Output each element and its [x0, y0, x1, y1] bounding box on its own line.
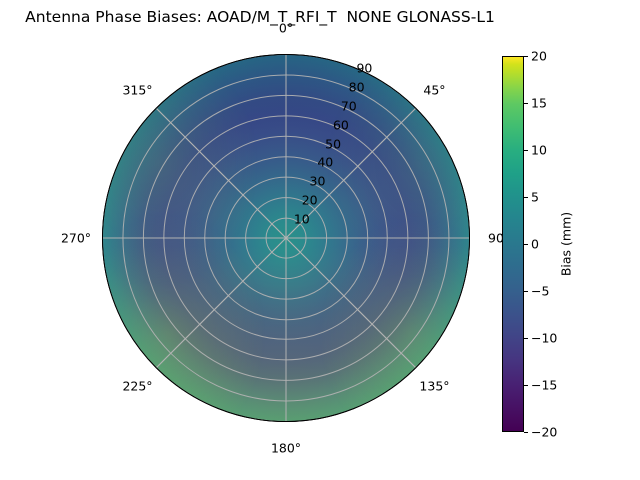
colorbar-tick: [524, 103, 528, 104]
r-tick-label: 70: [341, 98, 357, 113]
colorbar-tick-label: 20: [531, 49, 547, 64]
colorbar-gradient: [502, 56, 524, 432]
colorbar-tick-label: 10: [531, 143, 547, 158]
theta-tick-label: 180°: [271, 441, 301, 456]
page-title: Antenna Phase Biases: AOAD/M_T_RFI_T NON…: [0, 8, 520, 26]
r-tick-label: 80: [349, 79, 365, 94]
colorbar-tick-label: −5: [531, 284, 549, 299]
colorbar-tick-label: 0: [531, 237, 539, 252]
colorbar-tick: [524, 150, 528, 151]
colorbar-tick: [524, 291, 528, 292]
theta-tick-label: 135°: [419, 379, 449, 394]
polar-axes[interactable]: 0°45°90135°180°225°270°315°1020304050607…: [102, 54, 470, 422]
colorbar-tick: [524, 432, 528, 433]
theta-tick-label: 270°: [61, 231, 91, 246]
r-tick-label: 50: [325, 136, 341, 151]
colorbar-tick-label: 5: [531, 190, 539, 205]
r-tick-label: 30: [310, 174, 326, 189]
colorbar-tick: [524, 197, 528, 198]
colorbar-tick: [524, 338, 528, 339]
colorbar-tick-label: −20: [531, 425, 557, 440]
r-tick-label: 40: [317, 155, 333, 170]
theta-tick-label: 0°: [279, 21, 293, 36]
colorbar-tick: [524, 56, 528, 57]
polar-heatmap-field: [102, 54, 470, 422]
r-tick-label: 60: [333, 117, 349, 132]
theta-tick-label: 45°: [423, 82, 445, 97]
theta-tick-label: 225°: [122, 379, 152, 394]
colorbar[interactable]: 20151050−5−10−15−20: [502, 56, 524, 432]
colorbar-tick: [524, 385, 528, 386]
r-tick-label: 10: [294, 212, 310, 227]
colorbar-axis-label: Bias (mm): [559, 212, 574, 276]
colorbar-tick-label: 15: [531, 96, 547, 111]
colorbar-tick: [524, 244, 528, 245]
r-tick-label: 20: [302, 193, 318, 208]
r-tick-label: 90: [356, 61, 372, 76]
colorbar-tick-label: −15: [531, 378, 557, 393]
colorbar-tick-label: −10: [531, 331, 557, 346]
theta-tick-label: 315°: [122, 82, 152, 97]
field-azimuth-gradient: [102, 54, 470, 422]
